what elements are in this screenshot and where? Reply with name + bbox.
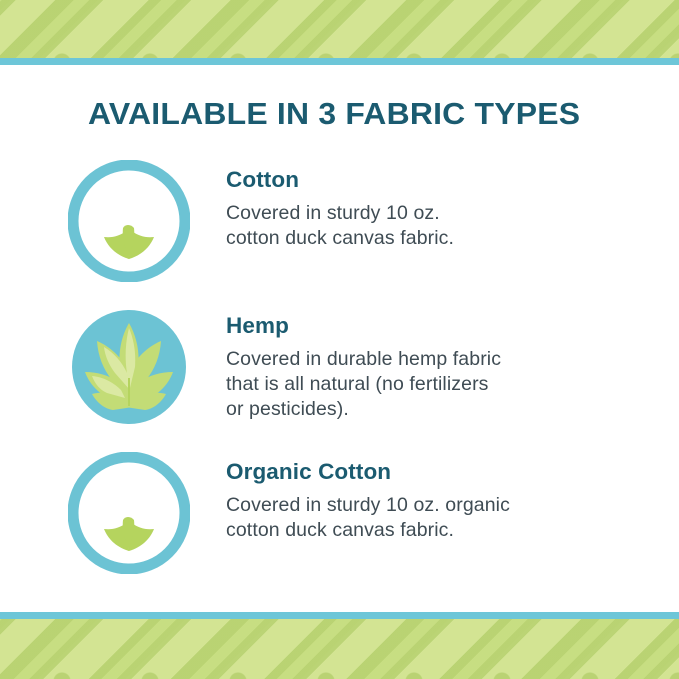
pattern-dots <box>0 619 679 679</box>
fabric-description: Covered in sturdy 10 oz. cotton duck can… <box>226 201 454 251</box>
hemp-leaf-icon <box>68 306 190 428</box>
fabric-row-organic-cotton: Organic Cotton Covered in sturdy 10 oz. … <box>0 452 679 574</box>
fabric-type-list: Cotton Covered in sturdy 10 oz. cotton d… <box>0 160 679 598</box>
cotton-boll-icon <box>68 452 190 574</box>
fabric-text-cotton: Cotton Covered in sturdy 10 oz. cotton d… <box>226 160 454 251</box>
top-teal-stripe <box>0 58 679 65</box>
fabric-text-organic-cotton: Organic Cotton Covered in sturdy 10 oz. … <box>226 452 510 543</box>
bottom-decorative-band <box>0 619 679 679</box>
fabric-description: Covered in sturdy 10 oz. organic cotton … <box>226 493 510 543</box>
top-decorative-band <box>0 0 679 58</box>
fabric-row-hemp: Hemp Covered in durable hemp fabric that… <box>0 306 679 428</box>
pattern-dots <box>0 0 679 58</box>
fabric-text-hemp: Hemp Covered in durable hemp fabric that… <box>226 306 501 422</box>
cotton-boll-icon <box>68 160 190 282</box>
fabric-name: Organic Cotton <box>226 460 510 485</box>
fabric-row-cotton: Cotton Covered in sturdy 10 oz. cotton d… <box>0 160 679 282</box>
fabric-description: Covered in durable hemp fabric that is a… <box>226 347 501 422</box>
fabric-name: Hemp <box>226 314 501 339</box>
fabric-name: Cotton <box>226 168 454 193</box>
page-title: AVAILABLE IN 3 FABRIC TYPES <box>88 96 580 132</box>
bottom-teal-stripe <box>0 612 679 619</box>
infographic-canvas: AVAILABLE IN 3 FABRIC TYPES Cotton Cover… <box>0 0 679 679</box>
